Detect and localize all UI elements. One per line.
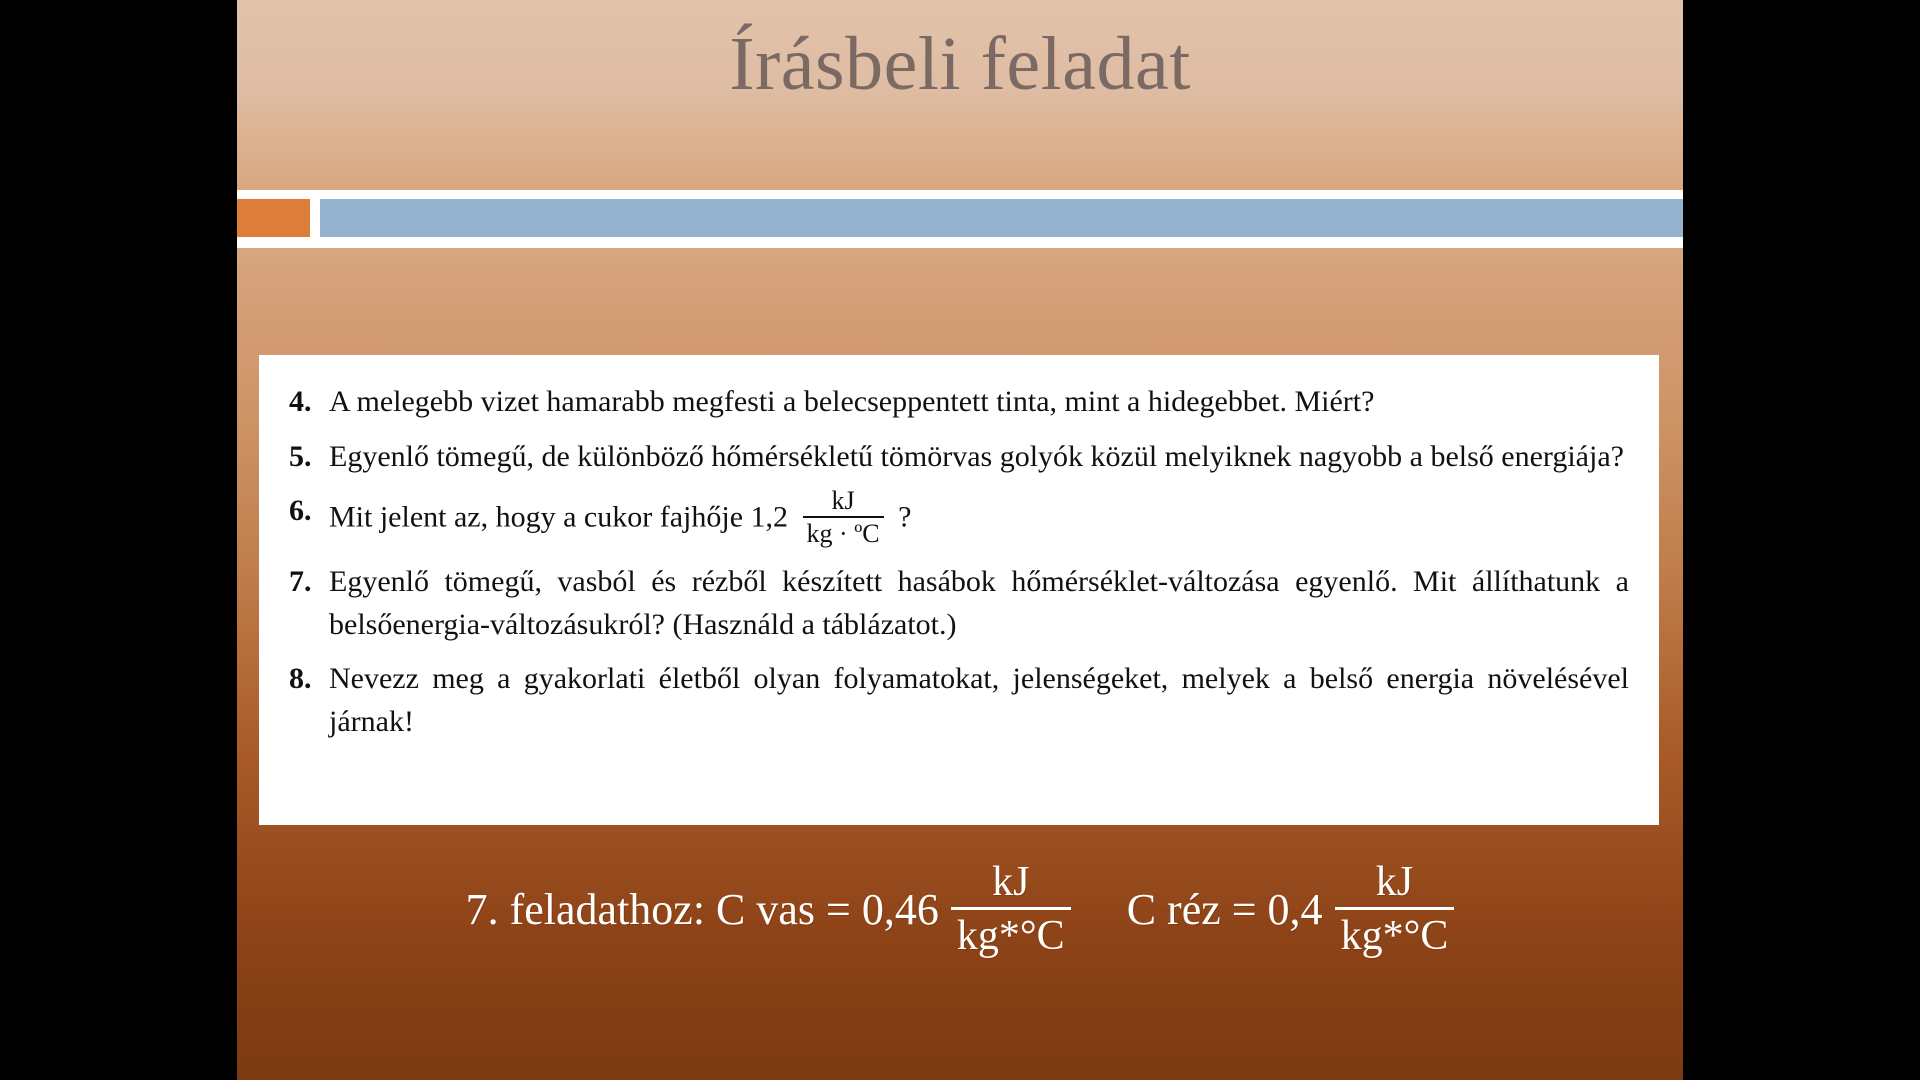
question-text-before-fraction: Mit jelent az, hogy a cukor fajhője 1,2 <box>329 501 788 534</box>
list-item: 7. Egyenlő tömegű, vasból és rézből kész… <box>283 561 1629 646</box>
slide-header: Írásbeli feladat <box>237 0 1683 190</box>
list-item: 8. Nevezz meg a gyakorlati életből olyan… <box>283 658 1629 743</box>
fraction-denominator: kg*°C <box>1335 910 1455 958</box>
question-number: 6. <box>283 490 329 533</box>
divider-blue-bar <box>320 199 1683 237</box>
question-text: Mit jelent az, hogy a cukor fajhője 1,2 … <box>329 490 1629 549</box>
question-number: 5. <box>283 436 329 479</box>
copper-specific-heat-formula: C réz = 0,4 kJ kg*°C <box>1127 860 1455 958</box>
fraction-numerator: kJ <box>828 488 859 516</box>
fraction-denominator: kg*°C <box>951 910 1071 958</box>
letterbox-bar-right <box>1683 0 1920 1080</box>
copper-unit-fraction: kJ kg*°C <box>1335 860 1455 958</box>
iron-formula-label: 7. feladathoz: C vas = 0,46 <box>466 884 939 935</box>
divider-white-bottom <box>237 237 1683 248</box>
header-divider <box>237 190 1683 248</box>
list-item: 4. A melegebb vizet hamarabb megfesti a … <box>283 381 1629 424</box>
iron-specific-heat-formula: 7. feladathoz: C vas = 0,46 kJ kg*°C <box>466 860 1071 958</box>
iron-unit-fraction: kJ kg*°C <box>951 860 1071 958</box>
question-text: Nevezz meg a gyakorlati életből olyan fo… <box>329 658 1629 743</box>
question-text: Egyenlő tömegű, de különböző hőmérséklet… <box>329 436 1629 479</box>
question-text-after-fraction: ? <box>898 501 911 534</box>
list-item: 6. Mit jelent az, hogy a cukor fajhője 1… <box>283 490 1629 549</box>
question-number: 7. <box>283 561 329 604</box>
question-text: A melegebb vizet hamarabb megfesti a bel… <box>329 381 1629 424</box>
question-number: 8. <box>283 658 329 701</box>
divider-orange-square <box>237 199 310 237</box>
fraction-numerator: kJ <box>986 860 1035 907</box>
presentation-slide: Írásbeli feladat 4. A melegebb vizet ham… <box>237 0 1683 1080</box>
copper-formula-label: C réz = 0,4 <box>1127 884 1323 935</box>
letterbox-bar-left <box>0 0 237 1080</box>
page-title: Írásbeli feladat <box>729 25 1191 105</box>
divider-white-top <box>237 190 1683 199</box>
formula-row: 7. feladathoz: C vas = 0,46 kJ kg*°C C r… <box>237 860 1683 958</box>
divider-gap <box>310 199 320 237</box>
fraction-denominator: kg · ºC <box>803 518 884 547</box>
question-text: Egyenlő tömegű, vasból és rézből készíte… <box>329 561 1629 646</box>
question-card: 4. A melegebb vizet hamarabb megfesti a … <box>259 355 1659 825</box>
fraction-numerator: kJ <box>1370 860 1419 907</box>
screenshot-canvas: Írásbeli feladat 4. A melegebb vizet ham… <box>0 0 1920 1080</box>
question-number: 4. <box>283 381 329 424</box>
question-list: 4. A melegebb vizet hamarabb megfesti a … <box>283 381 1629 744</box>
specific-heat-fraction: kJ kg · ºC <box>803 488 884 547</box>
list-item: 5. Egyenlő tömegű, de különböző hőmérsék… <box>283 436 1629 479</box>
